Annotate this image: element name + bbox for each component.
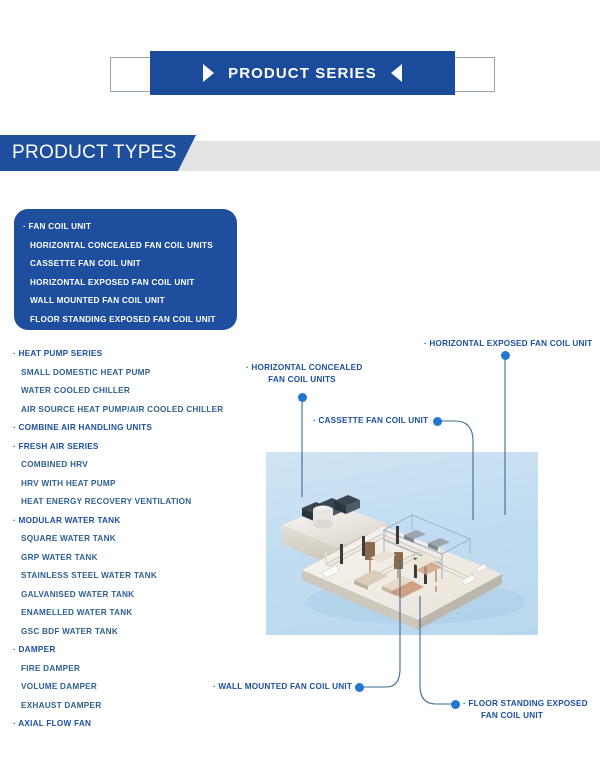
fan-coil-unit-panel: FAN COIL UNIT HORIZONTAL CONCEALED FAN C… <box>14 209 237 330</box>
callout-line-1: · FLOOR STANDING EXPOSED <box>463 698 588 710</box>
callout-label-wall-mounted[interactable]: · WALL MOUNTED FAN COIL UNIT <box>213 681 352 693</box>
list-item[interactable]: ENAMELLED WATER TANK <box>10 604 250 623</box>
list-item[interactable]: HORIZONTAL EXPOSED FAN COIL UNIT <box>14 274 237 293</box>
callout-dot-floor-standing[interactable] <box>451 700 460 709</box>
list-item[interactable]: AXIAL FLOW FAN <box>10 715 250 734</box>
render-artwork <box>266 452 538 635</box>
header-blue-tab-tip <box>178 135 196 171</box>
list-item[interactable]: SQUARE WATER TANK <box>10 530 250 549</box>
callout-label-horizontal-exposed[interactable]: · HORIZONTAL EXPOSED FAN COIL UNIT <box>424 338 592 350</box>
list-item[interactable]: FAN COIL UNIT <box>14 218 237 237</box>
banner-bar: PRODUCT SERIES <box>150 51 455 95</box>
list-item[interactable]: SMALL DOMESTIC HEAT PUMP <box>10 364 250 383</box>
callout-label-floor-standing[interactable]: · FLOOR STANDING EXPOSED FAN COIL UNIT <box>463 698 588 721</box>
list-item[interactable]: HEAT PUMP SERIES <box>10 345 250 364</box>
list-item[interactable]: STAINLESS STEEL WATER TANK <box>10 567 250 586</box>
product-series-banner: PRODUCT SERIES <box>0 0 600 70</box>
banner-title: PRODUCT SERIES <box>228 66 377 81</box>
list-item[interactable]: GALVANISED WATER TANK <box>10 586 250 605</box>
list-item[interactable]: CASSETTE FAN COIL UNIT <box>14 255 237 274</box>
list-item[interactable]: DAMPER <box>10 641 250 660</box>
list-item[interactable]: HORIZONTAL CONCEALED FAN COIL UNITS <box>14 237 237 256</box>
callout-label-cassette[interactable]: · CASSETTE FAN COIL UNIT <box>313 415 428 427</box>
callout-line-1: · WALL MOUNTED FAN COIL UNIT <box>213 681 352 693</box>
callout-line-1: · HORIZONTAL CONCEALED <box>246 362 358 374</box>
list-item[interactable]: GSC BDF WATER TANK <box>10 623 250 642</box>
list-item[interactable]: WALL MOUNTED FAN COIL UNIT <box>14 292 237 311</box>
list-item[interactable]: HEAT ENERGY RECOVERY VENTILATION <box>10 493 250 512</box>
callout-dot-wall-mounted[interactable] <box>355 683 364 692</box>
triangle-left-icon <box>391 64 402 82</box>
page-title: PRODUCT TYPES <box>12 135 177 171</box>
callout-dot-cassette[interactable] <box>433 417 442 426</box>
list-item[interactable]: FLOOR STANDING EXPOSED FAN COIL UNIT <box>14 311 237 330</box>
list-item[interactable]: AIR SOURCE HEAT PUMP/AIR COOLED CHILLER <box>10 401 250 420</box>
callout-label-horizontal-concealed[interactable]: · HORIZONTAL CONCEALED FAN COIL UNITS <box>246 362 358 385</box>
callout-line-2: FAN COIL UNIT <box>463 710 588 722</box>
callout-line-1: · CASSETTE FAN COIL UNIT <box>313 415 428 427</box>
callout-dot-horizontal-concealed[interactable] <box>298 393 307 402</box>
product-types-header: PRODUCT TYPES <box>0 135 600 171</box>
list-item[interactable]: COMBINE AIR HANDLING UNITS <box>10 419 250 438</box>
list-item[interactable]: WATER COOLED CHILLER <box>10 382 250 401</box>
callout-dot-horizontal-exposed[interactable] <box>501 351 510 360</box>
list-item[interactable]: GRP WATER TANK <box>10 549 250 568</box>
list-item[interactable]: FIRE DAMPER <box>10 660 250 679</box>
building-cutaway-render <box>266 452 538 635</box>
list-item[interactable]: FRESH AIR SERIES <box>10 438 250 457</box>
list-item[interactable]: MODULAR WATER TANK <box>10 512 250 531</box>
callout-line-1: · HORIZONTAL EXPOSED FAN COIL UNIT <box>424 338 592 350</box>
callout-line-2: FAN COIL UNITS <box>246 374 358 386</box>
product-category-list: HEAT PUMP SERIES SMALL DOMESTIC HEAT PUM… <box>10 345 250 734</box>
list-item[interactable]: COMBINED HRV <box>10 456 250 475</box>
list-item[interactable]: EXHAUST DAMPER <box>10 697 250 716</box>
triangle-right-icon <box>203 64 214 82</box>
list-item[interactable]: HRV WITH HEAT PUMP <box>10 475 250 494</box>
